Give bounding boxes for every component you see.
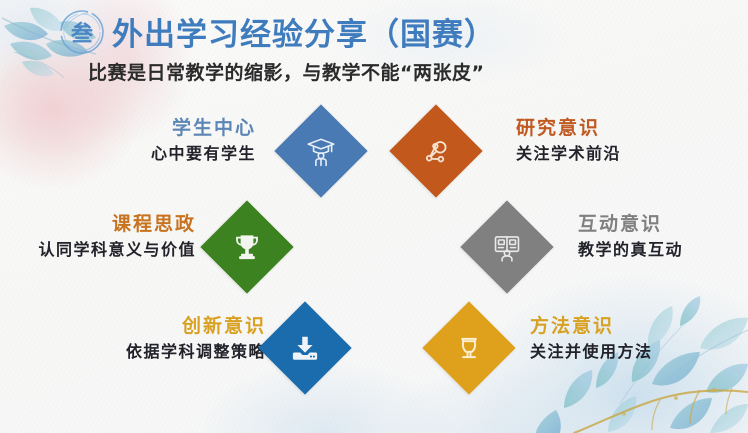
interactive-board-icon [490, 230, 524, 264]
section-badge: 叁 [58, 8, 106, 56]
item-interaction-awareness-title: 互动意识 [578, 213, 748, 237]
chalice-vase-icon [452, 331, 486, 365]
item-interaction-awareness-labels: 互动意识 教学的真互动 [578, 213, 748, 260]
item-curriculum-ideology-labels: 课程思政 认同学科意义与价值 [0, 213, 196, 260]
trophy-icon [230, 230, 264, 264]
item-interaction-awareness-subtitle: 教学的真互动 [578, 239, 748, 261]
item-innovation-awareness-labels: 创新意识 依据学科调整策略 [20, 315, 266, 362]
slide-canvas: 叁 外出学习经验分享（国赛） 比赛是日常教学的缩影，与教学不能“两张皮” 学生中… [0, 0, 748, 433]
item-method-awareness-labels: 方法意识 关注并使用方法 [530, 315, 746, 362]
item-innovation-awareness-subtitle: 依据学科调整策略 [20, 341, 266, 363]
item-innovation-awareness-diamond[interactable] [258, 301, 351, 394]
item-interaction-awareness-diamond[interactable] [460, 200, 553, 293]
items-grid: 学生中心 心中要有学生 [0, 103, 748, 423]
item-research-awareness-subtitle: 关注学术前沿 [516, 143, 736, 165]
item-student-center-diamond[interactable] [274, 104, 367, 197]
item-research-awareness-diamond[interactable] [389, 104, 482, 197]
download-inbox-icon [288, 331, 322, 365]
page-subtitle: 比赛是日常教学的缩影，与教学不能“两张皮” [88, 58, 484, 85]
item-innovation-awareness-title: 创新意识 [20, 315, 266, 339]
item-student-center-labels: 学生中心 心中要有学生 [36, 117, 256, 164]
item-student-center-subtitle: 心中要有学生 [36, 143, 256, 165]
item-method-awareness-title: 方法意识 [530, 315, 746, 339]
page-title: 外出学习经验分享（国赛） [112, 9, 496, 54]
item-curriculum-ideology-subtitle: 认同学科意义与价值 [0, 239, 196, 261]
research-microscope-icon [419, 134, 453, 168]
graduate-student-icon [304, 134, 338, 168]
section-badge-number: 叁 [58, 8, 106, 56]
item-student-center-title: 学生中心 [36, 117, 256, 141]
item-method-awareness-subtitle: 关注并使用方法 [530, 341, 746, 363]
item-research-awareness-labels: 研究意识 关注学术前沿 [516, 117, 736, 164]
item-curriculum-ideology-diamond[interactable] [200, 200, 293, 293]
item-research-awareness-title: 研究意识 [516, 117, 736, 141]
item-curriculum-ideology-title: 课程思政 [0, 213, 196, 237]
item-method-awareness-diamond[interactable] [422, 301, 515, 394]
